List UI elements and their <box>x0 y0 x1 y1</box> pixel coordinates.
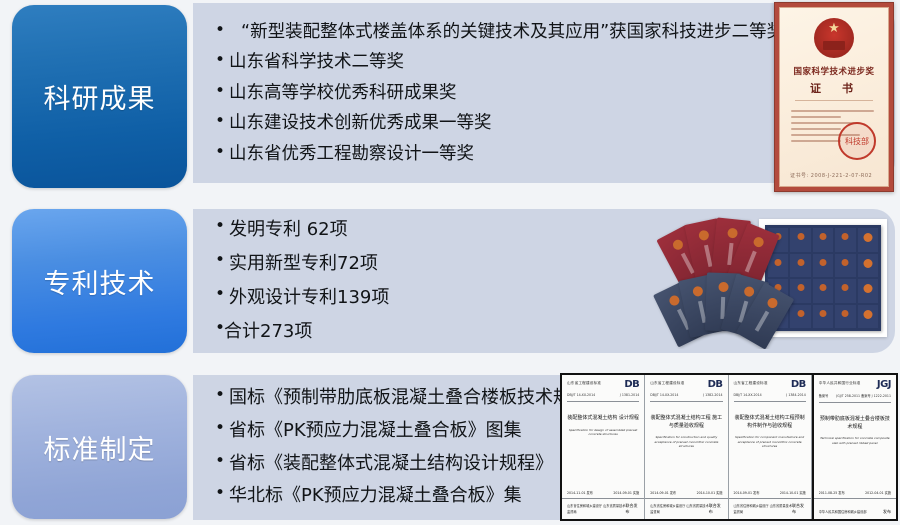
standards-books-image: 山东省工程建设标准 DB DBJ/T 14-XX-2014 J 1381-201… <box>560 373 898 521</box>
book-standard-logo: DB <box>708 379 723 390</box>
book-effective-date: 2014-09-01 实施 <box>613 490 639 495</box>
divider <box>814 498 896 499</box>
bullet-dot-icon: • <box>215 79 229 105</box>
divider <box>562 498 644 499</box>
book-standard-logo: DB <box>791 379 806 390</box>
divider <box>819 402 891 403</box>
bullet-dot-icon: • <box>215 316 224 342</box>
list-item-label: 国标《预制带肋底板混凝土叠合楼板技术规程》 <box>229 383 607 414</box>
book-code-left: DBJ/T 14-XX-2014 <box>734 393 762 397</box>
section-standards: 标准制定 • 国标《预制带肋底板混凝土叠合楼板技术规程》 • 省标《PK预应力混… <box>0 369 900 525</box>
book-publish-date: 2014-09-01 发布 <box>650 490 676 495</box>
book-publish-date: 2011-08-25 发布 <box>819 490 845 495</box>
list-item-label: 华北标《PK预应力混凝土叠合板》集 <box>229 481 522 512</box>
standard-book-cover: 中华人民共和国行业标准 JGJ 备案号 JGJ/T 258-2011 备案号 J… <box>812 375 896 519</box>
book-press: 联合发布 <box>709 503 723 515</box>
section-label-patents[interactable]: 专利技术 <box>12 209 187 353</box>
list-item-label: 山东省优秀工程勘察设计一等奖 <box>229 140 474 168</box>
book-organization: 山东省工程建设标准 <box>650 379 684 386</box>
book-effective-date: 2012-04-01 实施 <box>865 490 891 495</box>
book-subtitle: Technical specification for concrete com… <box>819 436 891 445</box>
list-item-label: 省标《装配整体式混凝土结构设计规程》 <box>229 449 553 480</box>
book-publish-date: 2014-11-01 发布 <box>567 490 593 495</box>
divider <box>795 100 873 101</box>
book-code-left: DBJ/T 14-XX-2014 <box>567 393 595 397</box>
standard-book-cover: 山东省工程建设标准 DB DBJ/T 14-XX-2014 J 1384-201… <box>729 375 812 519</box>
section-label-text: 标准制定 <box>44 428 156 467</box>
section-label-research[interactable]: 科研成果 <box>12 5 187 188</box>
book-publisher: 山东省住房和城乡建设厅 山东省质量技术监督局 <box>567 504 625 515</box>
bullet-dot-icon: • <box>215 248 229 274</box>
section-patents: 专利技术 • 发明专利 62项 • 实用新型专利72项 • 外观设计专利139项… <box>0 203 900 356</box>
book-organization: 山东省工程建设标准 <box>567 379 601 386</box>
list-item-label: 实用新型专利72项 <box>229 248 378 280</box>
list-item-label: 省标《PK预应力混凝土叠合板》图集 <box>229 416 522 447</box>
book-title: 装配整体式混凝土结构工程 施工与质量验收规程 <box>650 415 722 430</box>
book-press: 发布 <box>883 509 891 515</box>
divider <box>729 498 811 499</box>
book-press: 联合发布 <box>792 503 806 515</box>
section-research: 科研成果 • “新型装配整体式楼盖体系的关键技术及其应用”获国家科技进步二等奖 … <box>0 0 900 193</box>
slide-canvas: 科研成果 • “新型装配整体式楼盖体系的关键技术及其应用”获国家科技进步二等奖 … <box>0 0 900 525</box>
list-item-label: 山东高等学校优秀科研成果奖 <box>229 79 457 107</box>
book-standard-logo: DB <box>624 379 639 390</box>
book-effective-date: 2014-10-01 实施 <box>780 490 806 495</box>
bullet-dot-icon: • <box>215 140 229 166</box>
patent-certificates-image <box>650 209 895 349</box>
book-subtitle: Specification for construction and quali… <box>650 435 722 449</box>
divider <box>645 498 727 499</box>
book-publisher: 山东省住房和城乡建设厅 山东省质量技术监督局 <box>734 504 792 515</box>
divider <box>734 401 806 402</box>
certificate-number: 证书号: 2008-J-221-2-07-R02 <box>790 172 872 179</box>
list-item-label: 合计273项 <box>224 316 312 348</box>
divider <box>567 401 639 402</box>
list-item-label: 外观设计专利139项 <box>229 282 389 314</box>
book-code-right: J 1382-2014 <box>703 393 722 397</box>
book-code-right: J 1384-2014 <box>786 393 805 397</box>
book-press: 联合发布 <box>625 503 639 515</box>
book-standard-logo: JGJ <box>877 379 891 390</box>
section-label-text: 专利技术 <box>44 262 156 301</box>
book-title: 装配整体式混凝土结构工程预制 构件制作与验收规程 <box>734 415 806 430</box>
book-publisher: 山东省住房和城乡建设厅 山东省质量技术监督局 <box>650 504 708 515</box>
national-emblem-icon <box>814 18 854 58</box>
book-code-left: 备案号 <box>819 393 829 398</box>
book-publish-date: 2014-09-01 发布 <box>734 490 760 495</box>
bullet-dot-icon: • <box>215 449 229 475</box>
book-code-left: DBJ/T 14-XX-2014 <box>650 393 678 397</box>
bullet-dot-icon: • <box>215 214 229 240</box>
award-certificate-image: 国家科学技术进步奖 证 书 科技部 证书号: 2008-J-221-2-07-R… <box>774 2 894 192</box>
list-item-label: 山东省科学技术二等奖 <box>229 48 404 76</box>
book-effective-date: 2014-10-01 实施 <box>697 490 723 495</box>
bullet-dot-icon: • <box>215 416 229 442</box>
certificate-title-line-2: 证 书 <box>810 80 858 96</box>
book-code-right: JGJ/T 258-2011 备案号 J 1222-2011 <box>836 393 891 398</box>
divider <box>650 401 722 402</box>
book-code-right: J 1381-2014 <box>620 393 639 397</box>
book-organization: 山东省工程建设标准 <box>734 379 768 386</box>
book-subtitle: Specification for component manufacture … <box>734 435 806 449</box>
list-item-label: “新型装配整体式楼盖体系的关键技术及其应用”获国家科技进步二等奖 <box>241 18 784 46</box>
book-subtitle: Specification for design of assembled pr… <box>567 428 639 437</box>
red-seal-icon: 科技部 <box>838 122 876 160</box>
section-label-text: 科研成果 <box>44 77 156 116</box>
book-organization: 中华人民共和国行业标准 <box>819 379 861 386</box>
list-item-label: 发明专利 62项 <box>229 214 348 246</box>
certificate-title-line-1: 国家科学技术进步奖 <box>793 65 874 77</box>
standard-book-cover: 山东省工程建设标准 DB DBJ/T 14-XX-2014 J 1381-201… <box>562 375 645 519</box>
section-label-standards[interactable]: 标准制定 <box>12 375 187 519</box>
list-item-label: 山东建设技术创新优秀成果一等奖 <box>229 109 492 137</box>
book-publisher: 中华人民共和国住房和城乡建设部 <box>819 510 867 515</box>
bullet-dot-icon: • <box>215 18 241 44</box>
book-title: 预制带肋底板混凝土叠合楼板技术规程 <box>819 416 891 431</box>
bullet-dot-icon: • <box>215 383 229 409</box>
bullet-dot-icon: • <box>215 481 229 507</box>
bullet-dot-icon: • <box>215 48 229 74</box>
bullet-dot-icon: • <box>215 109 229 135</box>
book-title: 装配整体式混凝土结构 设计规程 <box>567 415 639 423</box>
bullet-dot-icon: • <box>215 282 229 308</box>
standard-book-cover: 山东省工程建设标准 DB DBJ/T 14-XX-2014 J 1382-201… <box>645 375 728 519</box>
